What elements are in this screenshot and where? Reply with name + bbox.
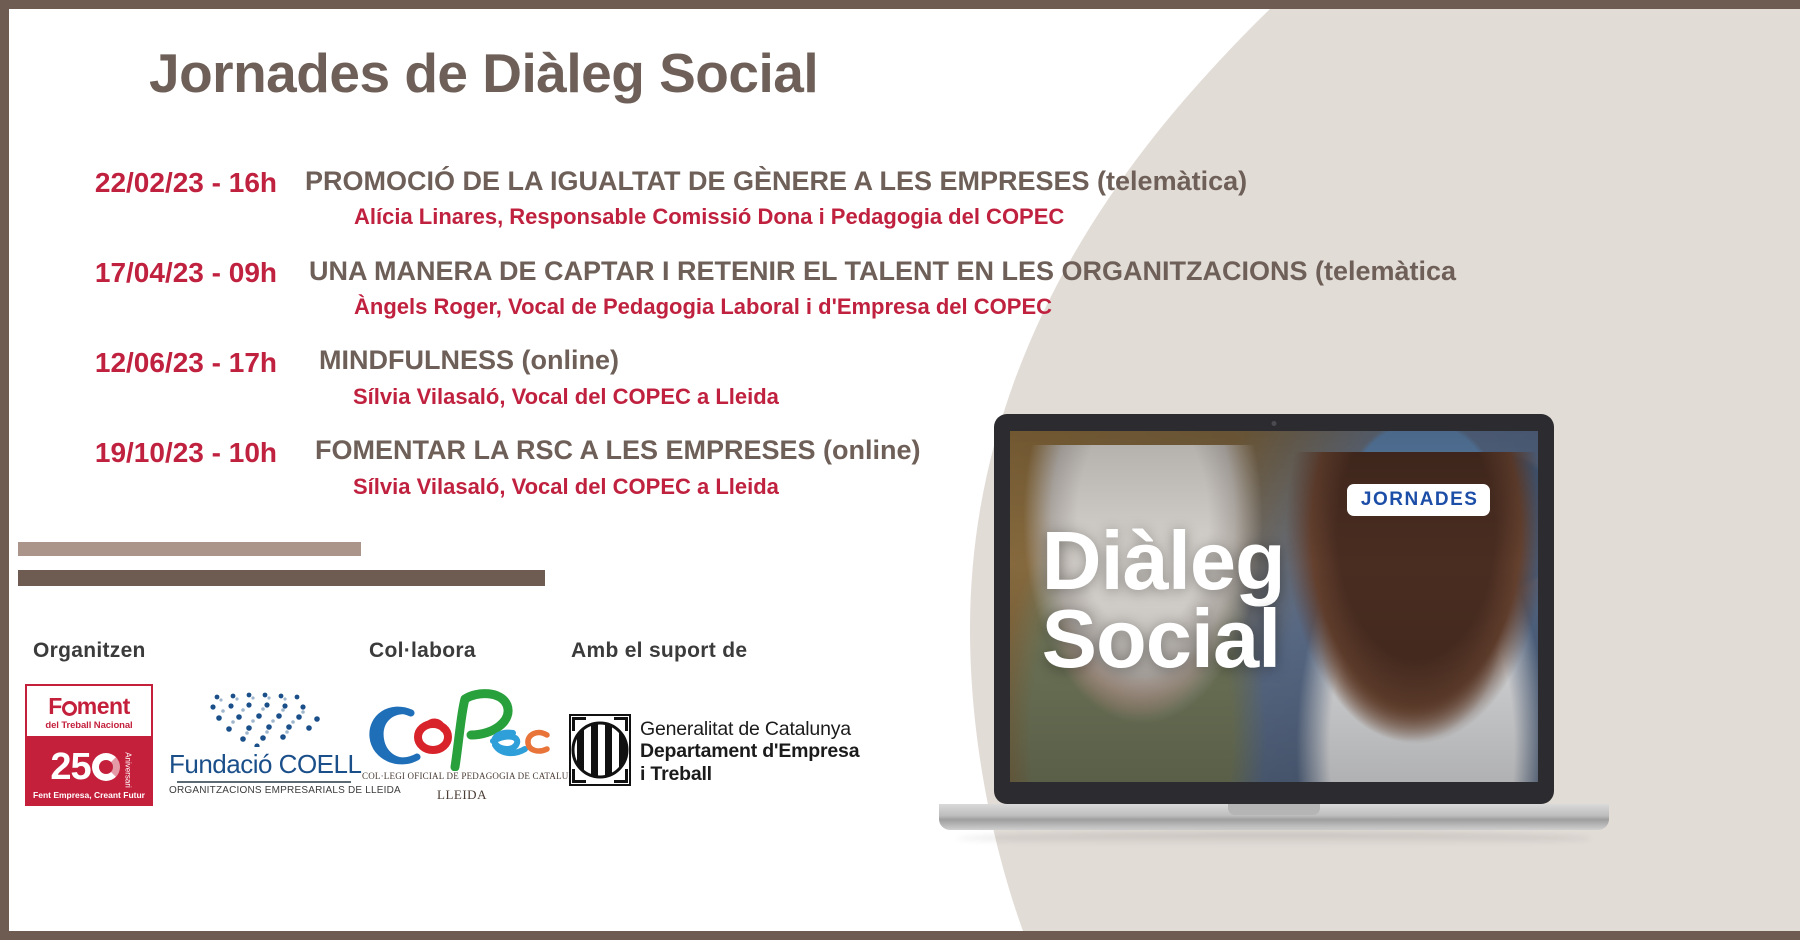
screen-title-line-1: Diàleg: [1042, 522, 1507, 600]
schedule-speaker: Àngels Roger, Vocal de Pedagogia Laboral…: [354, 294, 1052, 320]
generalitat-logo: Generalitat de Catalunya Departament d'E…: [569, 714, 869, 794]
foment-logo: Fment del Treball Nacional 25 Aniversari…: [25, 684, 153, 806]
sponsors-section: Organitzen Col·labora Amb el suport de F…: [9, 629, 1014, 940]
schedule-title: PROMOCIÓ DE LA IGUALTAT DE GÈNERE A LES …: [305, 166, 1247, 197]
generalitat-shield-icon: [569, 714, 631, 786]
decorative-bar-dark: [18, 570, 545, 586]
coell-logo: Fundació COELL ORGANITZACIONS EMPRESARIA…: [169, 691, 359, 811]
foment-anniversary-number: 25: [50, 748, 119, 786]
screen-title: Diàleg Social: [1042, 522, 1507, 678]
schedule-row: 22/02/23 - 16h PROMOCIÓ DE LA IGUALTAT D…: [9, 149, 1800, 239]
copec-logo: COL·LEGI OFICIAL DE PEDAGOGIA DE CATALUN…: [367, 679, 557, 819]
schedule-row: 12/06/23 - 17h MINDFULNESS (online) Sílv…: [9, 329, 1800, 419]
coell-divider: [177, 781, 351, 783]
foment-logo-top: Fment del Treball Nacional: [27, 686, 151, 736]
schedule-speaker: Sílvia Vilasaló, Vocal del COPEC a Lleid…: [353, 474, 779, 500]
schedule-speaker: Sílvia Vilasaló, Vocal del COPEC a Lleid…: [353, 384, 779, 410]
laptop-notch: [1228, 804, 1320, 815]
foment-logo-bottom: 25 Aniversari Fent Empresa, Creant Futur: [27, 736, 151, 804]
schedule-title: UNA MANERA DE CAPTAR I RETENIR EL TALENT…: [309, 256, 1456, 287]
schedule-date: 19/10/23 - 10h: [9, 437, 277, 469]
foment-o-ring-icon: [62, 701, 77, 716]
coell-subtitle: ORGANITZACIONS EMPRESARIALS DE LLEIDA: [169, 785, 359, 796]
schedule-title: MINDFULNESS (online): [319, 345, 619, 376]
decorative-bar-light: [18, 542, 361, 556]
sponsor-heading-suport: Amb el suport de: [571, 639, 747, 663]
generalitat-line-2: Departament d'Empresa: [640, 740, 859, 762]
schedule-date: 22/02/23 - 16h: [9, 167, 277, 199]
generalitat-wordmark: Generalitat de Catalunya Departament d'E…: [640, 714, 859, 785]
screen-title-line-2: Social: [1042, 600, 1507, 678]
copec-subtitle: COL·LEGI OFICIAL DE PEDAGOGIA DE CATALUN…: [362, 771, 562, 781]
schedule-date: 12/06/23 - 17h: [9, 347, 277, 379]
schedule-row: 19/10/23 - 10h FOMENTAR LA RSC A LES EMP…: [9, 419, 1800, 509]
foment-wordmark: Fment: [48, 695, 130, 718]
schedule-row: 17/04/23 - 09h UNA MANERA DE CAPTAR I RE…: [9, 239, 1800, 329]
foment-anniversary-label: Aniversari: [124, 752, 133, 788]
poster-canvas: Jornades de Diàleg Social 22/02/23 - 16h…: [0, 0, 1800, 940]
sponsor-heading-organitzen: Organitzen: [33, 639, 146, 663]
generalitat-line-3: i Treball: [640, 763, 859, 785]
schedule-list: 22/02/23 - 16h PROMOCIÓ DE LA IGUALTAT D…: [9, 149, 1800, 509]
foment-tagline: Fent Empresa, Creant Futur: [27, 790, 151, 800]
coell-dot-pattern-icon: [199, 691, 339, 747]
page-title: Jornades de Diàleg Social: [149, 41, 818, 105]
copec-city: LLEIDA: [367, 787, 557, 803]
foment-number-text: 25: [50, 748, 90, 786]
generalitat-line-1: Generalitat de Catalunya: [640, 718, 859, 740]
laptop-shadow: [957, 832, 1591, 845]
foment-subtitle: del Treball Nacional: [45, 720, 132, 731]
coell-wordmark: Fundació COELL: [169, 749, 359, 780]
foment-word-rest: ment: [77, 693, 130, 719]
schedule-speaker: Alícia Linares, Responsable Comissió Don…: [354, 204, 1064, 230]
schedule-title: FOMENTAR LA RSC A LES EMPRESES (online): [315, 435, 921, 466]
foment-zero-ring-icon: [92, 753, 120, 781]
schedule-date: 17/04/23 - 09h: [9, 257, 277, 289]
foment-letter-f: F: [48, 693, 62, 719]
sponsor-heading-collabora: Col·labora: [369, 639, 476, 663]
copec-brushmark-icon: [367, 679, 557, 771]
